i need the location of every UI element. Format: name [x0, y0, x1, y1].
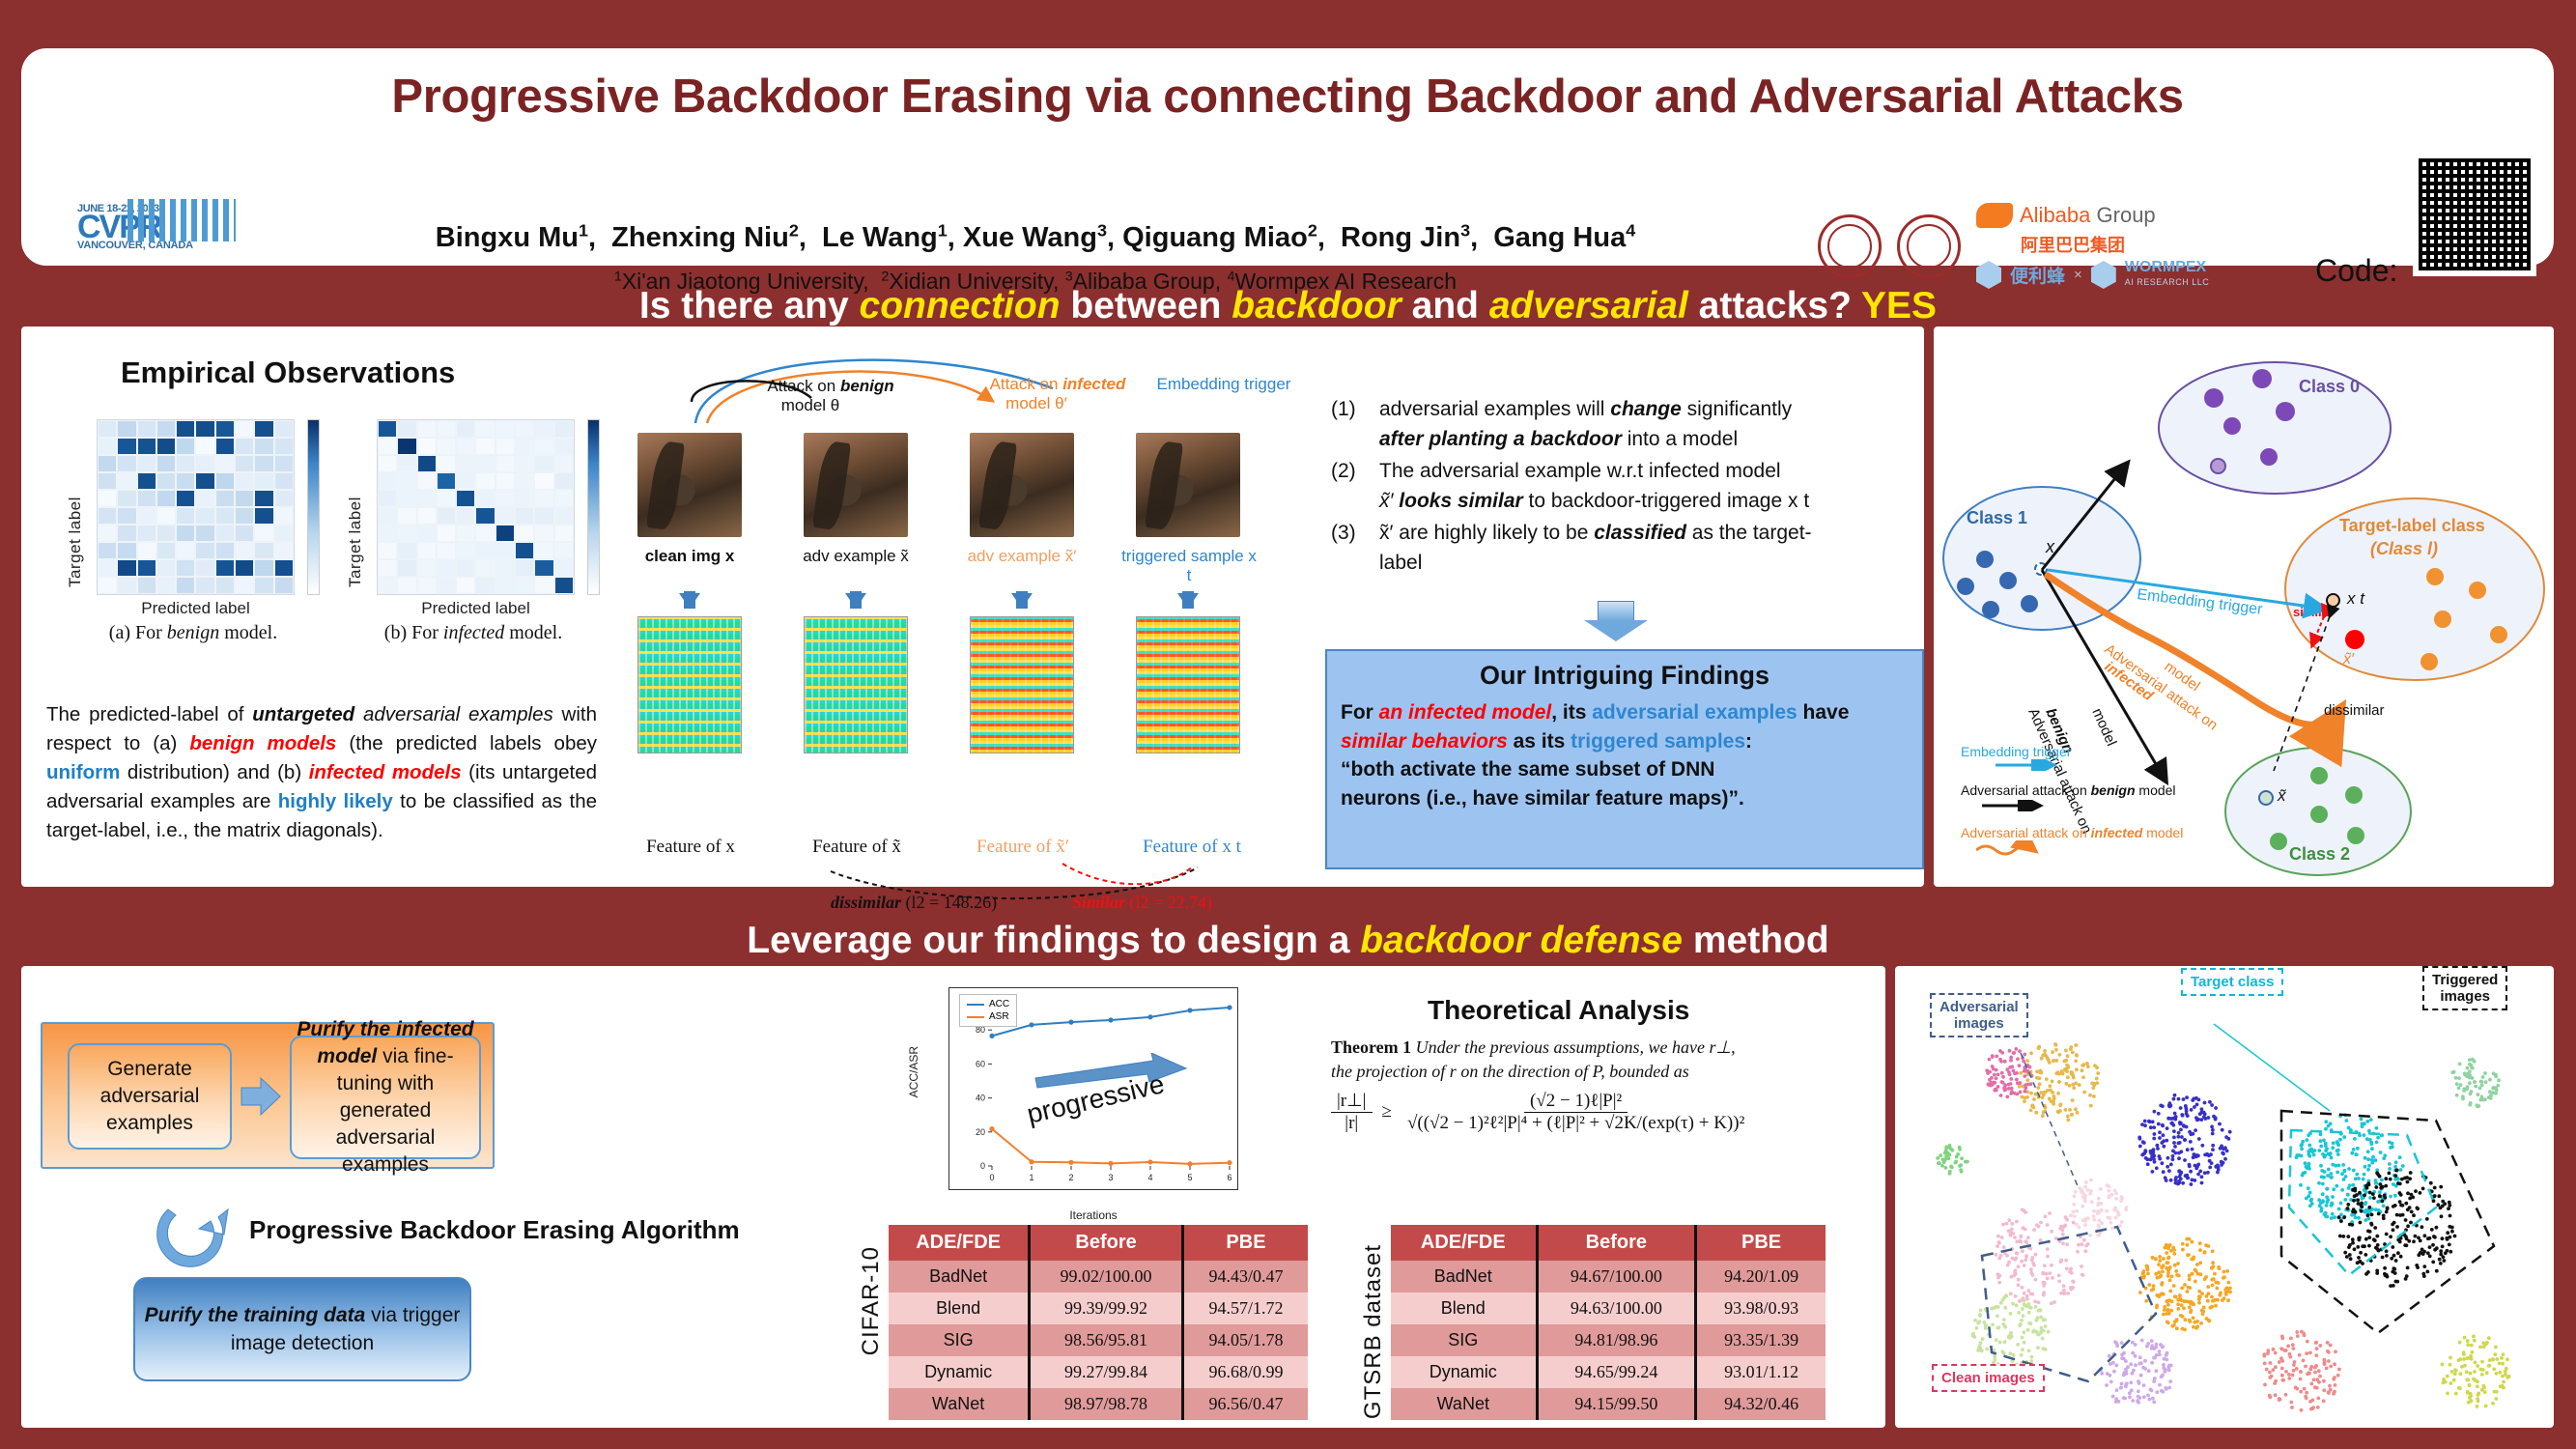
- tsne-tag-triggered-images: Triggeredimages: [2422, 966, 2507, 1010]
- observations-list: (1) adversarial examples will change sig…: [1331, 394, 1920, 580]
- down-arrow-icon-4: [1177, 593, 1199, 609]
- xidian-seal-icon: [1897, 214, 1961, 278]
- observation-item: (3) x̃′ are highly likely to be classifi…: [1331, 518, 1920, 578]
- adv-infected-point: [2345, 630, 2364, 649]
- formula-rhs-den: √((√2 − 1)²ℓ²|P|⁴ + (ℓ|P|² + √2K/(exp(τ)…: [1401, 1113, 1750, 1134]
- arrow-label-embedding: Embedding trigger: [1132, 375, 1316, 394]
- obs3-label: label: [1379, 552, 1422, 574]
- infected-arrow-pre: Attack on: [990, 375, 1063, 393]
- x-separator: ×: [2074, 267, 2082, 283]
- banner1-post: attacks?: [1688, 285, 1861, 327]
- theoretical-analysis-title: Theoretical Analysis: [1428, 995, 1689, 1026]
- tsne-tag-adversarial-images: Adversarialimages: [1930, 993, 2028, 1037]
- para-uniform: uniform: [46, 761, 120, 783]
- banner-question: Is there any connection between backdoor…: [0, 285, 2576, 327]
- chart-ylabel: ACC/ASR: [907, 1046, 920, 1097]
- svg-text:0: 0: [989, 1173, 994, 1182]
- para-l1c: adversarial: [354, 703, 460, 725]
- heatmap-a-caption: (a) For benign model.: [77, 622, 309, 644]
- down-arrow-icon-3: [1011, 593, 1033, 609]
- para-l4a: (b): [277, 761, 309, 783]
- cloud-class0: Class 0: [2154, 355, 2395, 500]
- flow-step-purify-data: Purify the training data via trigger ima…: [133, 1277, 471, 1381]
- findings-title: Our Intriguing Findings: [1327, 661, 1922, 691]
- obs3-c: as the target-: [1686, 522, 1812, 544]
- x-point-label: x: [2046, 537, 2054, 557]
- dissimilar-word: dissimilar: [831, 893, 901, 912]
- theorem-text-2: the projection of r on the direction of …: [1331, 1062, 1689, 1081]
- heatmap-b-caption: (b) For infected model.: [357, 622, 589, 644]
- cloud-class1: Class 1 x: [1939, 481, 2144, 636]
- svg-text:6: 6: [1227, 1173, 1231, 1182]
- banner2-post: method: [1683, 920, 1829, 961]
- sponsor-logos: Alibaba Group 阿里巴巴集团 便利蜂 × WORMPEX AI RE…: [1818, 203, 2209, 289]
- qr-code[interactable]: [2413, 153, 2536, 276]
- svg-text:20: 20: [976, 1127, 985, 1137]
- heatmap-b-ylabel: Target label: [346, 433, 365, 587]
- infected-arrow-model: model θ′: [1005, 394, 1067, 412]
- table1-r2-c2: 93.35/1.39: [1696, 1324, 1826, 1356]
- banner1-yes: YES: [1861, 285, 1937, 327]
- find-l3: “both activate the same subset of DNN: [1341, 758, 1714, 781]
- featuremap-adv-benign: [804, 616, 908, 753]
- svg-text:1: 1: [1029, 1173, 1033, 1182]
- table-row: SIG98.56/95.8194.05/1.78: [889, 1324, 1308, 1356]
- class0-label: Class 0: [2299, 377, 2360, 397]
- formula-lhs-num: |r⊥|: [1331, 1090, 1373, 1113]
- banner2-pre: Leverage our findings to design a: [747, 920, 1360, 961]
- table0-header-2: PBE: [1182, 1225, 1308, 1261]
- benign-arrow-pre: Attack on: [767, 377, 840, 395]
- flow-step-generate: Generate adversarial examples: [68, 1043, 232, 1150]
- table1-side-label: CIFAR-10: [858, 1246, 885, 1355]
- table-row: BadNet94.67/100.0094.20/1.09: [1391, 1261, 1826, 1293]
- bianlifeng-name: 便利蜂: [2010, 262, 2065, 288]
- class1-label: Class 1: [1967, 508, 2027, 528]
- legend-benign-pre: Adversarial attack on: [1961, 782, 2091, 798]
- theorem-statement: Theorem 1 Under the previous assumptions…: [1331, 1036, 1911, 1084]
- heatmap-b-colorbar: [587, 419, 600, 595]
- down-arrow-icon-2: [845, 593, 866, 609]
- image-triggered: [1136, 433, 1240, 537]
- table1-r3-c2: 93.01/1.12: [1696, 1356, 1826, 1388]
- image-clean: [637, 433, 742, 537]
- para-infected-models: infected models: [309, 761, 462, 783]
- observation-number: (3): [1331, 518, 1368, 578]
- xjtu-seal-icon: [1818, 214, 1882, 278]
- benign-arrow-em: benign: [840, 377, 894, 395]
- down-arrow-to-findings: [1584, 601, 1648, 639]
- para-l5a: examples are: [151, 790, 278, 812]
- author-list: Bingxu Mu1, Zhenxing Niu2, Le Wang1, Xue…: [311, 220, 1760, 254]
- banner1-mid2: and: [1401, 285, 1489, 327]
- para-l2d: (the: [336, 732, 382, 754]
- tsne-tag-target-class: Target class: [2181, 968, 2283, 996]
- obs2-x: x̃′: [1379, 490, 1399, 512]
- heatmap-b-cap-post: model.: [504, 622, 562, 643]
- benign-arrow-model: model θ: [781, 396, 839, 414]
- obs1-backdoor: after planting a backdoor: [1379, 428, 1622, 450]
- xtilde-prime-point-label: x̃′: [2343, 651, 2354, 668]
- para-l6: target-label, i.e., the matrix diagonals…: [46, 819, 383, 841]
- heatmap-b-cap-pre: (b) For: [384, 622, 443, 643]
- alibaba-mark-icon: [1976, 203, 2013, 228]
- legend-item-acc: ACC: [967, 998, 1009, 1010]
- target-class-label-line2: (Class l): [2370, 539, 2438, 559]
- find-l1a: For: [1341, 701, 1379, 724]
- obs2-a: The adversarial example w.r.t infected m…: [1379, 460, 1781, 482]
- table-row: SIG94.81/98.9693.35/1.39: [1391, 1324, 1826, 1356]
- tag-trig-l1: Triggered: [2432, 972, 2498, 988]
- table-row: Blend99.39/99.9294.57/1.72: [889, 1293, 1308, 1324]
- chart-legend: ACC ASR: [959, 994, 1017, 1027]
- legend-infected-em: infected: [2091, 825, 2143, 840]
- similar-value: (l2 = 22.74): [1125, 893, 1212, 912]
- infected-arrow-em: infected: [1062, 375, 1125, 393]
- table0-r3-c0: Dynamic: [889, 1356, 1030, 1388]
- legend-adv-infected: Adversarial attack on infected model: [1961, 825, 2183, 840]
- legend-benign-em: benign: [2091, 782, 2136, 798]
- down-arrow-icon-1: [679, 593, 700, 609]
- para-highly-likely: highly likely: [278, 790, 393, 812]
- find-similar-behaviors: similar behaviors: [1341, 730, 1508, 753]
- find-triggered-samples: triggered samples: [1571, 730, 1745, 753]
- svg-text:60: 60: [976, 1059, 985, 1068]
- empirical-paragraph: The predicted-label of untargeted advers…: [46, 700, 597, 845]
- image-adv-infected: [970, 433, 1074, 537]
- xtilde-point-label: x̃: [2278, 786, 2286, 806]
- table0-r1-c1: 99.39/99.92: [1030, 1293, 1183, 1324]
- target-class-label-line1: Target-label class: [2339, 516, 2485, 536]
- similar-label: Similar (l2 = 22.74): [1072, 893, 1212, 913]
- right-arrow-icon: [240, 1074, 284, 1119]
- table0-r3-c2: 96.68/0.99: [1182, 1356, 1308, 1388]
- svg-text:40: 40: [976, 1094, 985, 1103]
- table1-r0-c2: 94.20/1.09: [1696, 1261, 1826, 1293]
- table0-r1-c0: Blend: [889, 1293, 1030, 1324]
- table0-r3-c1: 99.27/99.84: [1030, 1356, 1183, 1388]
- tsne-tag-clean-images: Clean images: [1932, 1364, 2045, 1392]
- observation-number: (1): [1331, 394, 1368, 454]
- empirical-observations-title: Empirical Observations: [121, 355, 455, 390]
- table0-header-0: ADE/FDE: [889, 1225, 1030, 1261]
- para-benign-models: benign models: [189, 732, 336, 754]
- para-l3a: predicted labels obey: [396, 732, 597, 754]
- intriguing-findings-box: Our Intriguing Findings For an infected …: [1325, 649, 1924, 869]
- para-l5c: to be classified as the: [393, 790, 597, 812]
- theorem-formula: |r⊥| |r| ≥ (√2 − 1)ℓ|P|² √((√2 − 1)²ℓ²|P…: [1331, 1090, 1911, 1134]
- legend-benign-post: model: [2136, 782, 2176, 798]
- table0-r0-c0: BadNet: [889, 1261, 1030, 1293]
- featuremap-adv-infected: [970, 616, 1074, 753]
- legend-infected-pre: Adversarial attack on: [1961, 825, 2091, 840]
- findings-body: For an infected model, its adversarial e…: [1327, 691, 1922, 812]
- table1-r1-c1: 94.63/100.00: [1537, 1293, 1696, 1324]
- heatmap-a-ylabel: Target label: [66, 433, 85, 587]
- code-label: Code:: [2315, 253, 2397, 289]
- formula-lhs-den: |r|: [1339, 1113, 1364, 1134]
- table-row: Blend94.63/100.0093.98/0.93: [1391, 1293, 1826, 1324]
- banner1-mid1: between: [1061, 285, 1232, 327]
- table0-r4-c0: WaNet: [889, 1388, 1030, 1420]
- para-l2a: examples: [468, 703, 553, 725]
- skyline-icon: [127, 199, 236, 241]
- featuremap-triggered: [1136, 616, 1240, 753]
- table1-r4-c2: 94.32/0.46: [1696, 1388, 1826, 1420]
- formula-rhs-num: (√2 − 1)ℓ|P|²: [1524, 1091, 1628, 1113]
- table1-r4-c0: WaNet: [1391, 1388, 1537, 1420]
- find-adv-examples: adversarial examples: [1592, 701, 1797, 724]
- cvpr-logo: JUNE 18-22, 2023 CVPR VANCOUVER, CANADA: [77, 203, 237, 276]
- algorithm-label: Progressive Backdoor Erasing Algorithm: [249, 1215, 740, 1245]
- tag-adv-l1: Adversarial: [1939, 999, 2019, 1015]
- arrow-label-infected: Attack on infected model θ′: [966, 375, 1149, 413]
- table0-r0-c2: 94.43/0.47: [1182, 1261, 1308, 1293]
- banner-leverage: Leverage our findings to design a backdo…: [0, 920, 2576, 962]
- table1-r1-c2: 93.98/0.93: [1696, 1293, 1826, 1324]
- table2-side-label: GTSRB dataset: [1360, 1244, 1387, 1419]
- cycle-arrow-icon: [143, 1190, 255, 1283]
- table1-r3-c0: Dynamic: [1391, 1356, 1537, 1388]
- chart-xlabel: Iterations: [949, 1208, 1237, 1222]
- banner1-em-backdoor: backdoor: [1231, 285, 1401, 327]
- obs2-d: to backdoor-triggered image x t: [1523, 490, 1809, 512]
- table0-r0-c1: 99.02/100.00: [1030, 1261, 1183, 1293]
- theorem-label: Theorem 1: [1331, 1037, 1411, 1057]
- cloud-target-class: Target-label class (Class l) x t x̃′ sim…: [2279, 493, 2550, 686]
- heatmap-infected: Target label Predicted label (b) For inf…: [348, 406, 589, 638]
- table-row: BadNet99.02/100.0094.43/0.47: [889, 1261, 1308, 1293]
- para-untargeted: untargeted: [252, 703, 354, 725]
- legend-infected-post: model: [2142, 825, 2183, 840]
- heatmap-b-cap-em: infected: [443, 622, 504, 643]
- table0-r2-c2: 94.05/1.78: [1182, 1324, 1308, 1356]
- table1-r2-c1: 94.81/98.96: [1537, 1324, 1696, 1356]
- page-title: Progressive Backdoor Erasing via connect…: [21, 70, 2554, 124]
- similar-annotation: similar: [2293, 605, 2334, 619]
- table0-r1-c2: 94.57/1.72: [1182, 1293, 1308, 1324]
- table-row: Dynamic99.27/99.8496.68/0.99: [889, 1356, 1308, 1388]
- tag-adv-l2: images: [1954, 1015, 2004, 1032]
- legend-item-asr: ASR: [967, 1010, 1009, 1023]
- alibaba-group-word: Group: [2097, 203, 2156, 227]
- table1-r0-c1: 94.67/100.00: [1537, 1261, 1696, 1293]
- legend-embedding-trigger: Embedding trigger: [1961, 744, 2071, 759]
- obs1-a: adversarial examples will: [1379, 398, 1610, 420]
- qr-code-image: [2419, 158, 2531, 270]
- heatmap-a-cap-pre: (a) For: [109, 622, 167, 643]
- table0-header-1: Before: [1030, 1225, 1183, 1261]
- find-l4: neurons (i.e., have similar feature maps…: [1341, 787, 1744, 810]
- find-infected-model: an infected model: [1379, 701, 1552, 724]
- table1-r1-c0: Blend: [1391, 1293, 1537, 1324]
- svg-text:3: 3: [1108, 1173, 1113, 1182]
- para-l3c: distribution) and: [120, 761, 269, 783]
- svg-text:0: 0: [980, 1161, 985, 1171]
- table-row: Dynamic94.65/99.2493.01/1.12: [1391, 1356, 1826, 1388]
- observation-number: (2): [1331, 456, 1368, 516]
- table0-r2-c1: 98.56/95.81: [1030, 1324, 1183, 1356]
- obs3-a: x̃′ are highly likely to be: [1379, 522, 1594, 544]
- alibaba-name: Alibaba: [2020, 203, 2090, 227]
- obs3-classified: classified: [1594, 522, 1686, 544]
- formula-rhs: (√2 − 1)ℓ|P|² √((√2 − 1)²ℓ²|P|⁴ + (ℓ|P|²…: [1401, 1091, 1750, 1134]
- alibaba-cn-name: 阿里巴巴集团: [2021, 232, 2209, 257]
- table-row: WaNet94.15/99.5094.32/0.46: [1391, 1388, 1826, 1420]
- heatmap-benign: Target label Predicted label (a) For ben…: [68, 406, 309, 638]
- para-l1a: The predicted-label of: [46, 703, 252, 725]
- find-l1c: , its: [1551, 701, 1592, 724]
- heatmap-b-xlabel: Predicted label: [377, 599, 575, 618]
- table0-r4-c1: 98.97/98.78: [1030, 1388, 1183, 1420]
- legend-adv-benign: Adversarial attack on benign model: [1961, 782, 2176, 798]
- svg-text:5: 5: [1187, 1173, 1192, 1182]
- wormpex-name: WORMPEX: [2125, 261, 2210, 274]
- caption-triggered-sample: triggered sample x t: [1120, 547, 1258, 585]
- svg-text:2: 2: [1068, 1173, 1073, 1182]
- legend-asr-label: ASR: [989, 1010, 1009, 1023]
- banner2-em: backdoor defense: [1360, 920, 1683, 961]
- caption-adv-benign: adv example x̃: [792, 547, 920, 566]
- table0-r4-c2: 96.56/0.47: [1182, 1388, 1308, 1420]
- heatmap-a-cap-em: benign: [167, 622, 219, 643]
- table0-r2-c0: SIG: [889, 1324, 1030, 1356]
- arrow-label-benign: Attack on benign model θ: [744, 377, 918, 415]
- table1-header-0: ADE/FDE: [1391, 1225, 1537, 1261]
- results-table-cifar10: ADE/FDEBeforePBEBadNet99.02/100.0094.43/…: [889, 1225, 1308, 1420]
- dissimilar-label: dissimilar (l2 = 148.26): [831, 893, 997, 913]
- cloud-class2: Class 2 x̃: [2222, 744, 2415, 879]
- dissimilar-value: (l2 = 148.26): [901, 893, 997, 912]
- image-adv-benign: [804, 433, 908, 537]
- similar-word: Similar: [1072, 893, 1125, 912]
- table1-header-1: Before: [1537, 1225, 1696, 1261]
- xtilde-point: [2258, 790, 2274, 806]
- table-row: WaNet98.97/98.7896.56/0.47: [889, 1388, 1308, 1420]
- banner1-em-adversarial: adversarial: [1489, 285, 1688, 327]
- class2-label: Class 2: [2289, 844, 2350, 865]
- legend-acc-label: ACC: [989, 998, 1009, 1010]
- banner1-pre: Is there any: [639, 285, 860, 327]
- formula-relation: ≥: [1382, 1101, 1392, 1122]
- table1-r3-c1: 94.65/99.24: [1537, 1356, 1696, 1388]
- obs1-c: significantly: [1682, 398, 1792, 420]
- xt-point-label: x t: [2347, 589, 2364, 609]
- svg-text:4: 4: [1147, 1173, 1152, 1182]
- flow-step3-bold: Purify the training data: [145, 1304, 366, 1326]
- caption-adv-infected: adv example x̃′: [958, 547, 1086, 566]
- table1-r2-c0: SIG: [1391, 1324, 1537, 1356]
- find-l2b: as its: [1508, 730, 1571, 753]
- heatmap-a-cap-post: model.: [219, 622, 277, 643]
- obs1-change: change: [1610, 398, 1682, 420]
- featcap-clean: Feature of x: [622, 837, 759, 858]
- header-card: Progressive Backdoor Erasing via connect…: [21, 48, 2554, 266]
- tag-trig-l2: images: [2440, 988, 2490, 1005]
- heatmap-a-colorbar: [307, 419, 320, 595]
- flow-step-purify-model: Purify the infected model via fine-tunin…: [290, 1036, 481, 1159]
- caption-clean-image: clean img x: [626, 547, 753, 566]
- obs2-looks-similar: looks similar: [1399, 490, 1522, 512]
- find-l2d: :: [1745, 730, 1752, 753]
- obs1-d: into a model: [1622, 428, 1738, 450]
- featuremap-clean: [637, 616, 742, 753]
- table1-header-2: PBE: [1696, 1225, 1826, 1261]
- table1-r4-c1: 94.15/99.50: [1537, 1388, 1696, 1420]
- find-l1e: have: [1798, 701, 1850, 724]
- observation-item: (1) adversarial examples will change sig…: [1331, 394, 1920, 454]
- formula-lhs: |r⊥| |r|: [1331, 1090, 1373, 1134]
- heatmap-a-xlabel: Predicted label: [97, 599, 295, 618]
- theorem-text-1: Under the previous assumptions, we have …: [1416, 1037, 1736, 1057]
- table1-r0-c0: BadNet: [1391, 1261, 1537, 1293]
- results-table-gtsrb: ADE/FDEBeforePBEBadNet94.67/100.0094.20/…: [1391, 1225, 1826, 1420]
- banner1-em-connection: connection: [860, 285, 1061, 327]
- observation-item: (2) The adversarial example w.r.t infect…: [1331, 456, 1920, 516]
